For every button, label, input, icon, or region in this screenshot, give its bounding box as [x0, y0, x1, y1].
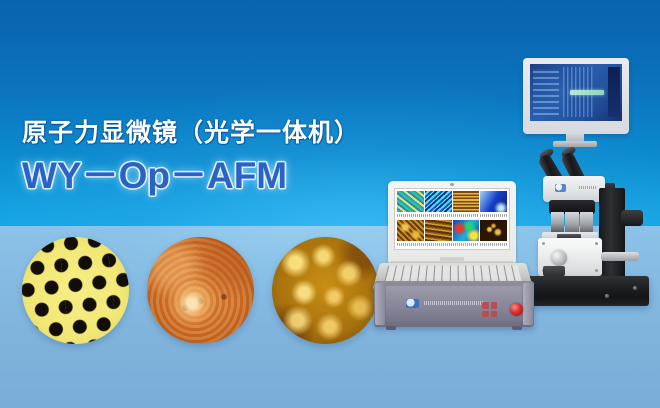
trinocular-head	[543, 176, 605, 202]
scan-thumbnail	[453, 191, 480, 219]
scanner-name-plate	[543, 266, 565, 276]
scan-caption	[425, 243, 452, 246]
scanner-focus-dial[interactable]	[551, 250, 567, 266]
laptop-keyboard[interactable]	[384, 266, 521, 282]
software-left-panel	[533, 69, 559, 115]
scan-thumbnail	[397, 220, 424, 248]
lcd-monitor	[523, 58, 629, 134]
scan-caption	[453, 243, 480, 246]
laptop-screen	[394, 188, 510, 250]
scan-caption	[480, 243, 507, 246]
brand-logo-icon	[555, 184, 566, 192]
scan-image	[480, 191, 507, 212]
scan-image	[453, 220, 480, 241]
scan-thumbnail	[480, 220, 507, 248]
controller-button[interactable]	[482, 302, 489, 309]
head-label-text	[579, 186, 597, 189]
base-screw	[633, 286, 637, 290]
cantilever-image	[570, 90, 604, 95]
scan-image	[397, 191, 424, 212]
webcam-icon	[450, 183, 454, 186]
scan-thumbnail	[480, 191, 507, 219]
product-model-name: WY－Op－AFM	[22, 154, 360, 198]
product-title-chinese: 原子力显微镜（光学一体机）	[22, 118, 360, 148]
column-knob[interactable]	[621, 210, 643, 226]
controller-button[interactable]	[491, 302, 498, 309]
scan-image	[480, 220, 507, 241]
controller-right-rail	[523, 283, 533, 325]
afm-controller-unit	[374, 281, 534, 327]
controller-left-rail	[375, 283, 385, 325]
scan-caption	[425, 214, 452, 217]
controller-button-grid[interactable]	[482, 302, 497, 317]
title-block: 原子力显微镜（光学一体机） WY－Op－AFM	[22, 118, 360, 198]
product-banner: 原子力显微镜（光学一体机） WY－Op－AFM	[0, 0, 660, 408]
workstation	[374, 181, 534, 327]
scan-caption	[397, 243, 424, 246]
granite-base-edge	[515, 298, 649, 306]
controller-button[interactable]	[482, 311, 489, 318]
monitor-screen	[530, 64, 622, 121]
scan-caption	[480, 214, 507, 217]
scan-caption	[397, 214, 424, 217]
controller-front-panel	[386, 286, 522, 322]
sample-image-dot-array	[22, 237, 129, 344]
sample-image-gold-grain	[272, 237, 379, 344]
scan-thumbnail	[425, 191, 452, 219]
laptop-lid	[388, 181, 516, 263]
controller-button[interactable]	[491, 311, 498, 318]
controller-label-text	[424, 301, 484, 305]
controller-feet	[384, 326, 524, 330]
scan-caption	[453, 214, 480, 217]
scan-image	[425, 191, 452, 212]
controller-foot	[386, 326, 396, 330]
monitor-stand-base	[553, 141, 597, 147]
panel-screw	[595, 242, 598, 245]
scan-image	[453, 191, 480, 212]
controller-logo-icon	[406, 299, 419, 308]
scan-thumbnail	[453, 220, 480, 248]
scan-image	[397, 220, 424, 241]
scan-thumbnail	[397, 191, 424, 219]
panel-screw	[595, 269, 598, 272]
sample-image-copper-topography	[147, 237, 254, 344]
support-column	[599, 188, 625, 284]
controller-foot	[512, 326, 522, 330]
software-right-panel	[608, 67, 620, 117]
panel-screw	[542, 242, 545, 245]
stage-translation-knob[interactable]	[601, 252, 639, 261]
dot-pattern-layer	[22, 237, 129, 344]
scan-thumbnail	[425, 220, 452, 248]
power-knob[interactable]	[510, 303, 523, 316]
scan-image	[425, 220, 452, 241]
